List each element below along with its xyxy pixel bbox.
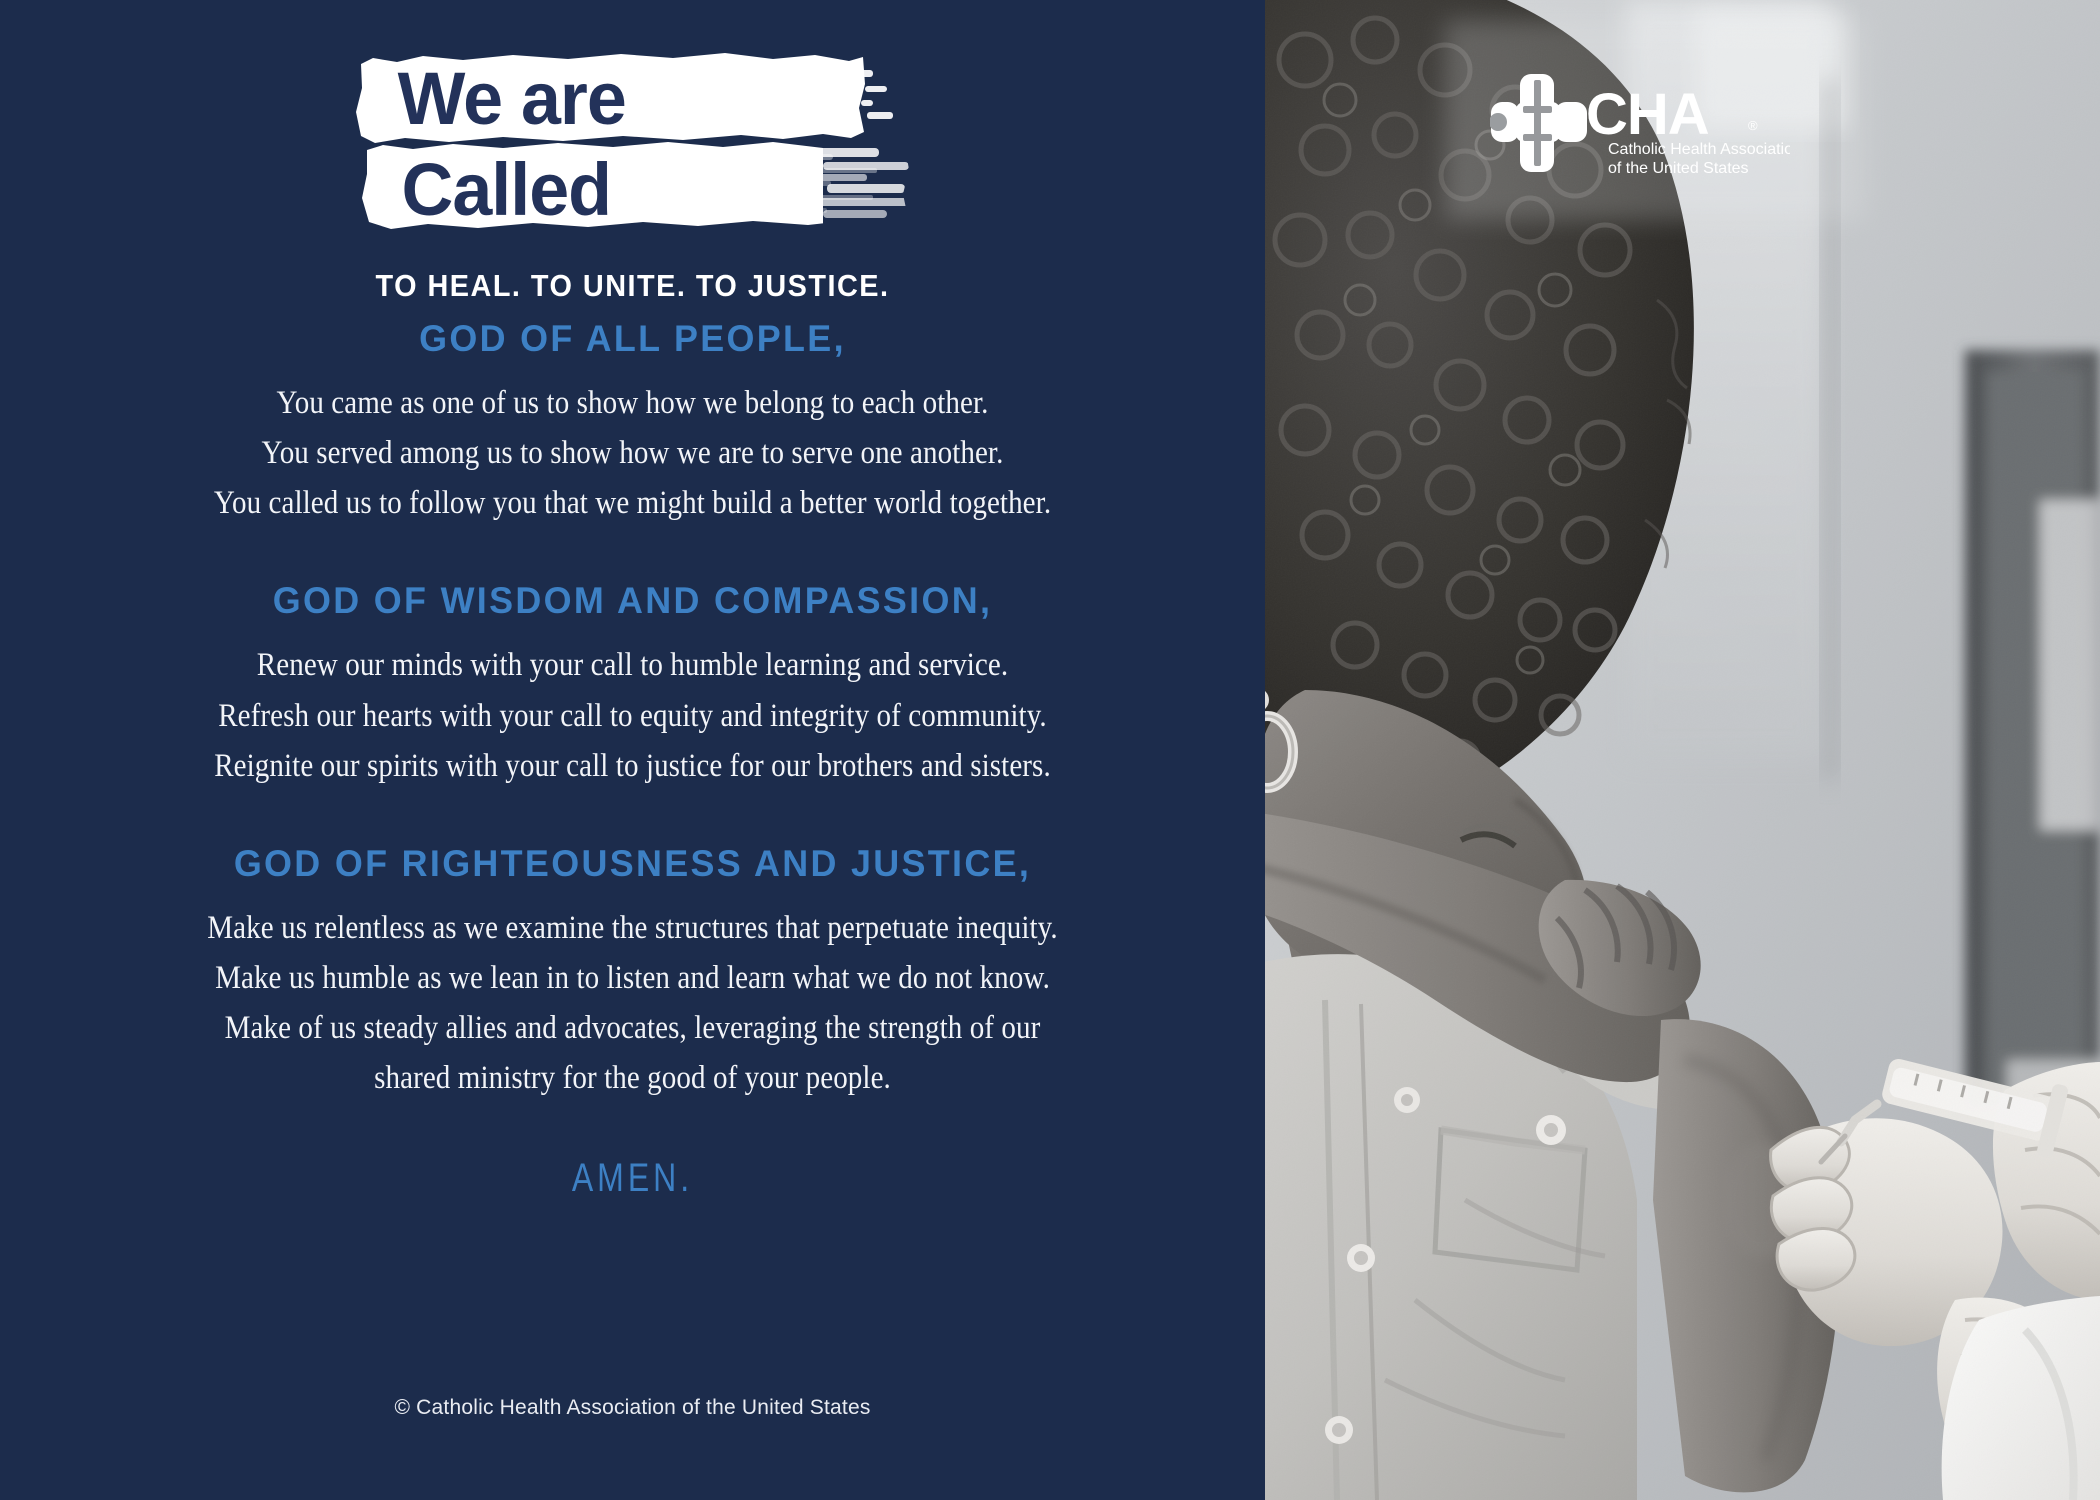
stanza-heading: GOD OF ALL PEOPLE,: [19, 318, 1246, 360]
cha-acronym: CHA: [1586, 82, 1709, 147]
stanza-heading: GOD OF RIGHTEOUSNESS AND JUSTICE,: [19, 843, 1246, 885]
stanza-line: Renew our minds with your call to humble…: [76, 640, 1189, 690]
brand-logo-lockup: We are Called TO HEAL. TO UNITE. TO JUST…: [0, 50, 1265, 304]
stanza-heading: GOD OF WISDOM AND COMPASSION,: [19, 580, 1246, 622]
stanza-line: Refresh our hearts with your call to equ…: [76, 691, 1189, 741]
cha-tagline-line2: of the United States: [1608, 160, 1749, 177]
brand-logo-line2: Called: [401, 149, 611, 231]
stanza-line: shared ministry for the good of your peo…: [76, 1053, 1189, 1103]
stanza-line: Make us relentless as we examine the str…: [76, 903, 1189, 953]
poster-canvas: We are Called TO HEAL. TO UNITE. TO JUST…: [0, 0, 2100, 1500]
vaccination-photograph: CHA ® Catholic Health Association of the…: [1265, 0, 2100, 1500]
brand-tagline: TO HEAL. TO UNITE. TO JUSTICE.: [44, 268, 1220, 304]
stanza-line: You served among us to show how we are t…: [76, 428, 1189, 478]
stanza-line: Reignite our spirits with your call to j…: [76, 741, 1189, 791]
prayer-panel: We are Called TO HEAL. TO UNITE. TO JUST…: [0, 0, 1265, 1500]
prayer-closing: AMEN.: [127, 1156, 1139, 1201]
cha-registered-mark: ®: [1748, 118, 1758, 133]
photo-illustration: [1265, 0, 2100, 1500]
prayer-stanza: GOD OF ALL PEOPLE, You came as one of us…: [0, 318, 1265, 528]
prayer-text: GOD OF ALL PEOPLE, You came as one of us…: [0, 318, 1265, 1201]
cha-logo: CHA ® Catholic Health Association of the…: [1490, 72, 1790, 177]
prayer-stanza: GOD OF RIGHTEOUSNESS AND JUSTICE, Make u…: [0, 843, 1265, 1104]
stanza-line: Make of us steady allies and advocates, …: [76, 1003, 1189, 1053]
copyright-notice: © Catholic Health Association of the Uni…: [0, 1396, 1265, 1420]
prayer-stanza: GOD OF WISDOM AND COMPASSION, Renew our …: [0, 580, 1265, 790]
brush-stroke-logo-icon: We are Called: [353, 50, 913, 240]
stanza-line: Make us humble as we lean in to listen a…: [76, 953, 1189, 1003]
brand-logo-line1: We are: [397, 58, 625, 140]
stanza-line: You came as one of us to show how we bel…: [76, 378, 1189, 428]
cha-tagline-line1: Catholic Health Association: [1608, 141, 1790, 158]
stanza-line: You called us to follow you that we migh…: [76, 478, 1189, 528]
